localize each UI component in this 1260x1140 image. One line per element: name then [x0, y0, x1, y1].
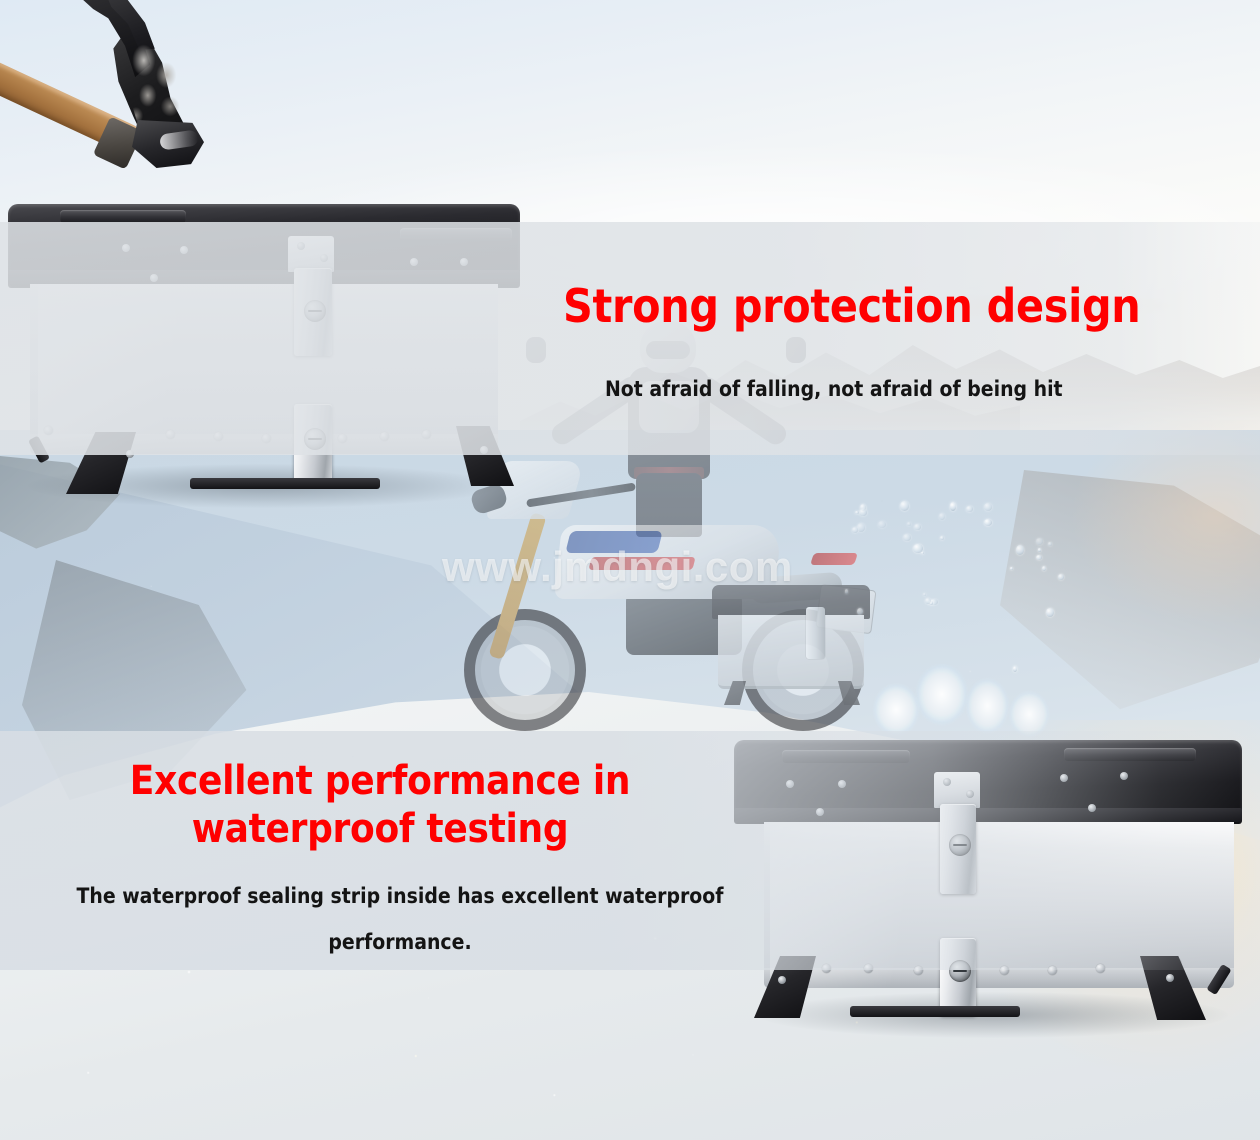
blue-livery-stripe: [565, 531, 662, 553]
water-droplet: [907, 522, 912, 526]
water-splash: [840, 500, 1070, 740]
water-droplet: [857, 608, 863, 615]
water-droplet: [878, 521, 886, 528]
water-droplet: [845, 589, 849, 593]
water-droplet: [1046, 608, 1055, 618]
mount-rail: [190, 478, 380, 489]
front-wheel: [464, 609, 586, 731]
water-droplet: [857, 523, 865, 532]
subline-strong-protection: Not afraid of falling, not afraid of bei…: [605, 377, 1063, 401]
water-droplet: [1042, 566, 1046, 571]
water-droplet: [984, 503, 992, 511]
mount-rail: [850, 1006, 1020, 1017]
headline-band-top: [0, 222, 1260, 455]
water-droplet: [1016, 545, 1024, 555]
headline-strong-protection: Strong protection design: [563, 279, 1140, 333]
water-droplet: [940, 536, 944, 540]
water-droplet: [1036, 555, 1042, 560]
water-droplet: [923, 593, 926, 597]
water-droplet: [903, 534, 911, 542]
subline-waterproof-testing: The waterproof sealing strip inside has …: [70, 873, 730, 965]
product-feature-banner: Strong protection design Not afraid of f…: [0, 0, 1260, 1140]
case-latch: [806, 607, 825, 659]
water-droplet: [859, 509, 866, 517]
water-droplet: [1010, 567, 1013, 570]
water-droplet: [939, 513, 945, 520]
water-droplet: [900, 501, 909, 512]
red-livery-stripe: [588, 557, 695, 570]
foot-screw: [778, 976, 786, 984]
water-droplet: [1048, 542, 1052, 546]
headline-waterproof-testing: Excellent performance in waterproof test…: [110, 757, 650, 853]
water-droplet: [950, 502, 957, 511]
claw-hammer: [0, 0, 242, 184]
water-droplet: [1058, 574, 1064, 581]
water-droplet: [984, 519, 992, 526]
water-droplet: [966, 506, 972, 513]
water-droplet: [914, 524, 921, 531]
water-droplet: [852, 527, 859, 532]
water-droplet: [921, 552, 924, 555]
water-droplet: [1036, 538, 1044, 545]
water-droplet: [1038, 548, 1042, 551]
foot-screw: [1166, 974, 1174, 982]
